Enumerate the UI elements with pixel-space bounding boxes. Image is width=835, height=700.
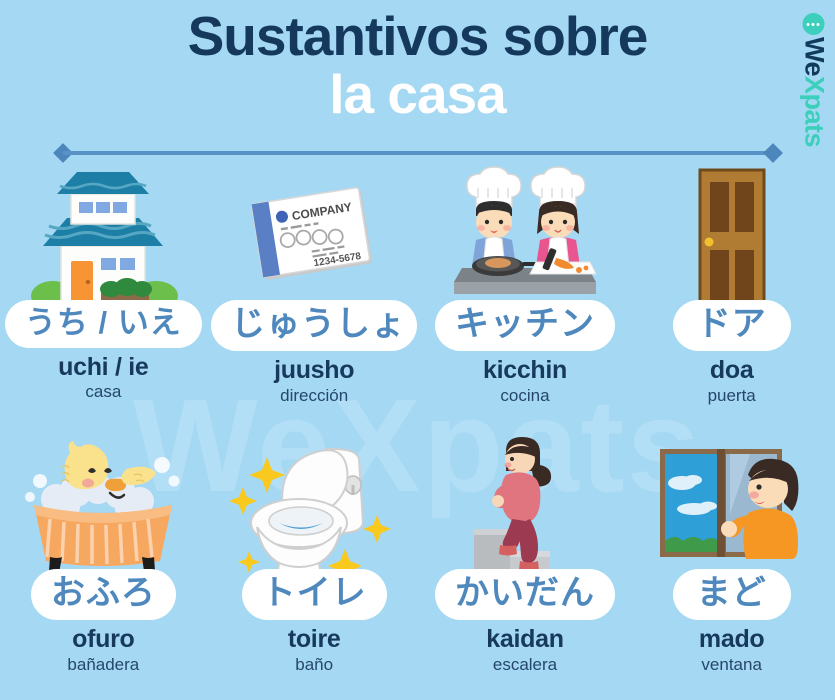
gloss-text: cocina [500, 386, 549, 406]
vocab-card-ofuro[interactable]: おふろ ofuro bañadera [0, 431, 207, 700]
vocab-card-uchi-ie[interactable]: うち / いえ uchi / ie casa [0, 162, 207, 431]
logo-mark-icon [803, 13, 825, 35]
vocabulary-grid: うち / いえ uchi / ie casa COMPANY [0, 162, 835, 700]
romaji-text: toire [288, 626, 341, 654]
kana-text: トイレ [262, 574, 367, 613]
kana-text: じゅうしょ [231, 305, 397, 344]
gloss-text: ventana [701, 655, 762, 675]
divider [56, 146, 780, 160]
kana-pill: かいだん [435, 569, 615, 620]
gloss-text: bañadera [67, 655, 139, 675]
romaji-text: kaidan [486, 626, 563, 654]
vocab-card-kaidan[interactable]: かいだん kaidan escalera [422, 431, 629, 700]
logo-text-xpats: Xpats [799, 76, 830, 147]
toilet-icon [207, 431, 422, 581]
kana-pill: じゅうしょ [211, 300, 417, 351]
kana-text: おふろ [51, 574, 156, 613]
romaji-text: uchi / ie [58, 354, 148, 382]
romaji-text: doa [710, 357, 754, 385]
door-icon [628, 162, 835, 312]
wexpats-logo: We Xpats [795, 10, 833, 150]
romaji-text: kicchin [483, 357, 567, 385]
kana-pill: トイレ [242, 569, 387, 620]
gloss-text: escalera [493, 655, 557, 675]
logo-text-we: We [799, 37, 830, 76]
kana-text: キッチン [455, 305, 595, 344]
chefs-cooking-icon [422, 162, 629, 312]
window-boy-icon [628, 431, 835, 581]
kana-text: まど [693, 574, 771, 613]
title-line-2: la casa [0, 66, 835, 124]
stairs-person-icon [422, 431, 629, 581]
kana-text: かいだん [455, 574, 595, 613]
romaji-text: ofuro [72, 626, 134, 654]
vocab-card-juusho[interactable]: COMPANY 1234-5678 [207, 162, 422, 431]
kana-pill: まど [673, 569, 791, 620]
kana-text: ドア [693, 305, 771, 344]
kana-pill: ドア [673, 300, 791, 351]
vocab-card-toire[interactable]: トイレ toire baño [207, 431, 422, 700]
business-card-icon: COMPANY 1234-5678 [207, 162, 422, 312]
gloss-text: dirección [280, 386, 348, 406]
vocab-card-kicchin[interactable]: キッチン kicchin cocina [422, 162, 629, 431]
gloss-text: casa [85, 382, 121, 402]
kana-pill: キッチン [435, 300, 615, 351]
vocab-card-mado[interactable]: まど mado ventana [628, 431, 835, 700]
kana-pill: うち / いえ [5, 300, 202, 348]
romaji-text: mado [699, 626, 764, 654]
house-icon [0, 162, 207, 312]
kana-pill: おふろ [31, 569, 176, 620]
duck-bathtub-icon [0, 431, 207, 581]
divider-diamond-right-icon [763, 143, 783, 163]
gloss-text: puerta [708, 386, 756, 406]
title-line-1: Sustantivos sobre [0, 8, 835, 66]
divider-bar [63, 151, 773, 155]
kana-text: うち / いえ [25, 305, 182, 341]
gloss-text: baño [295, 655, 333, 675]
page-title: Sustantivos sobre la casa [0, 8, 835, 124]
vocab-card-doa[interactable]: ドア doa puerta [628, 162, 835, 431]
romaji-text: juusho [274, 357, 354, 385]
